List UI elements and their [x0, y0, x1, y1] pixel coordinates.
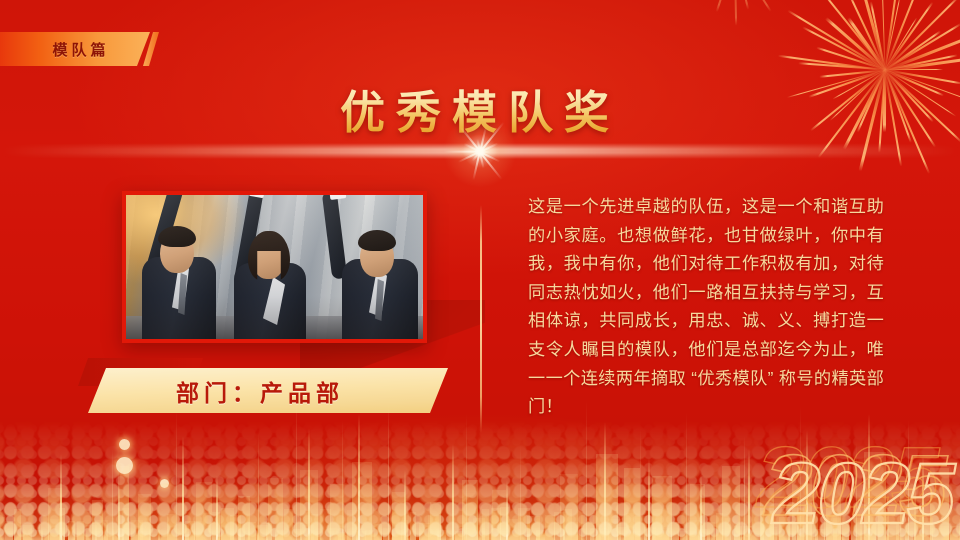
team-photo	[122, 191, 427, 343]
lens-flare-icon	[0, 143, 960, 159]
page-title: 优秀模队奖	[340, 76, 620, 141]
page-title-wrap: 优秀模队奖	[0, 76, 960, 141]
section-tab[interactable]: 模队篇	[0, 32, 150, 66]
department-label: 部门：产品部	[176, 374, 344, 408]
slide-canvas: 模队篇 优秀模队奖	[0, 0, 960, 540]
department-banner: 部门：产品部	[88, 368, 448, 413]
section-tab-label: 模队篇	[52, 39, 109, 60]
year-label: 2025	[773, 445, 952, 540]
photo-vignette	[126, 195, 423, 339]
body-paragraph: 这是一个先进卓越的队伍，这是一个和谐互助的小家庭。也想做鲜花，也甘做绿叶，你中有…	[528, 192, 884, 421]
vertical-divider	[480, 205, 482, 433]
firework-burst-secondary-icon	[660, 0, 810, 30]
